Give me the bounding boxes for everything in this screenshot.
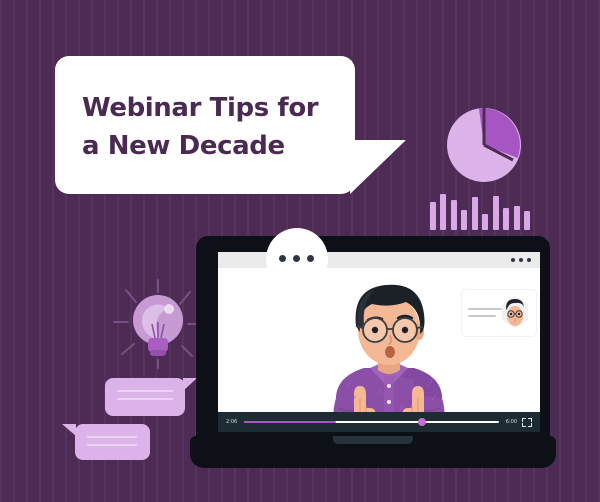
chat-bubble-tail — [62, 424, 76, 436]
typing-dots-icon — [266, 228, 328, 290]
video-controls-bar: 2:06 6:00 — [218, 412, 540, 432]
laptop-lid: 2:06 6:00 — [196, 236, 550, 442]
pie-chart-icon — [447, 108, 521, 182]
title-card-tail — [350, 140, 406, 194]
laptop-screen: 2:06 6:00 — [218, 252, 540, 432]
progress-knob[interactable] — [418, 418, 426, 426]
current-time-label: 2:06 — [226, 419, 237, 425]
video-stage: 2:06 6:00 — [218, 268, 540, 432]
participant-thumbnail[interactable] — [462, 290, 536, 336]
chat-bubble-icon — [105, 378, 185, 416]
webinar-poster-canvas: 2:06 6:00 Web — [0, 0, 600, 502]
video-progress[interactable] — [244, 421, 499, 423]
title-card: Webinar Tips for a New Decade — [55, 56, 355, 194]
bar-chart-icon — [430, 192, 530, 230]
avatar-glasses-icon — [500, 296, 530, 330]
fullscreen-icon[interactable] — [522, 418, 532, 427]
page-title: Webinar Tips for a New Decade — [82, 89, 344, 165]
more-options-icon[interactable] — [511, 258, 531, 262]
laptop-device: 2:06 6:00 — [190, 236, 556, 468]
laptop-trackpad-notch — [333, 436, 413, 444]
total-time-label: 6:00 — [506, 419, 517, 425]
chat-bubble-icon — [75, 424, 150, 460]
